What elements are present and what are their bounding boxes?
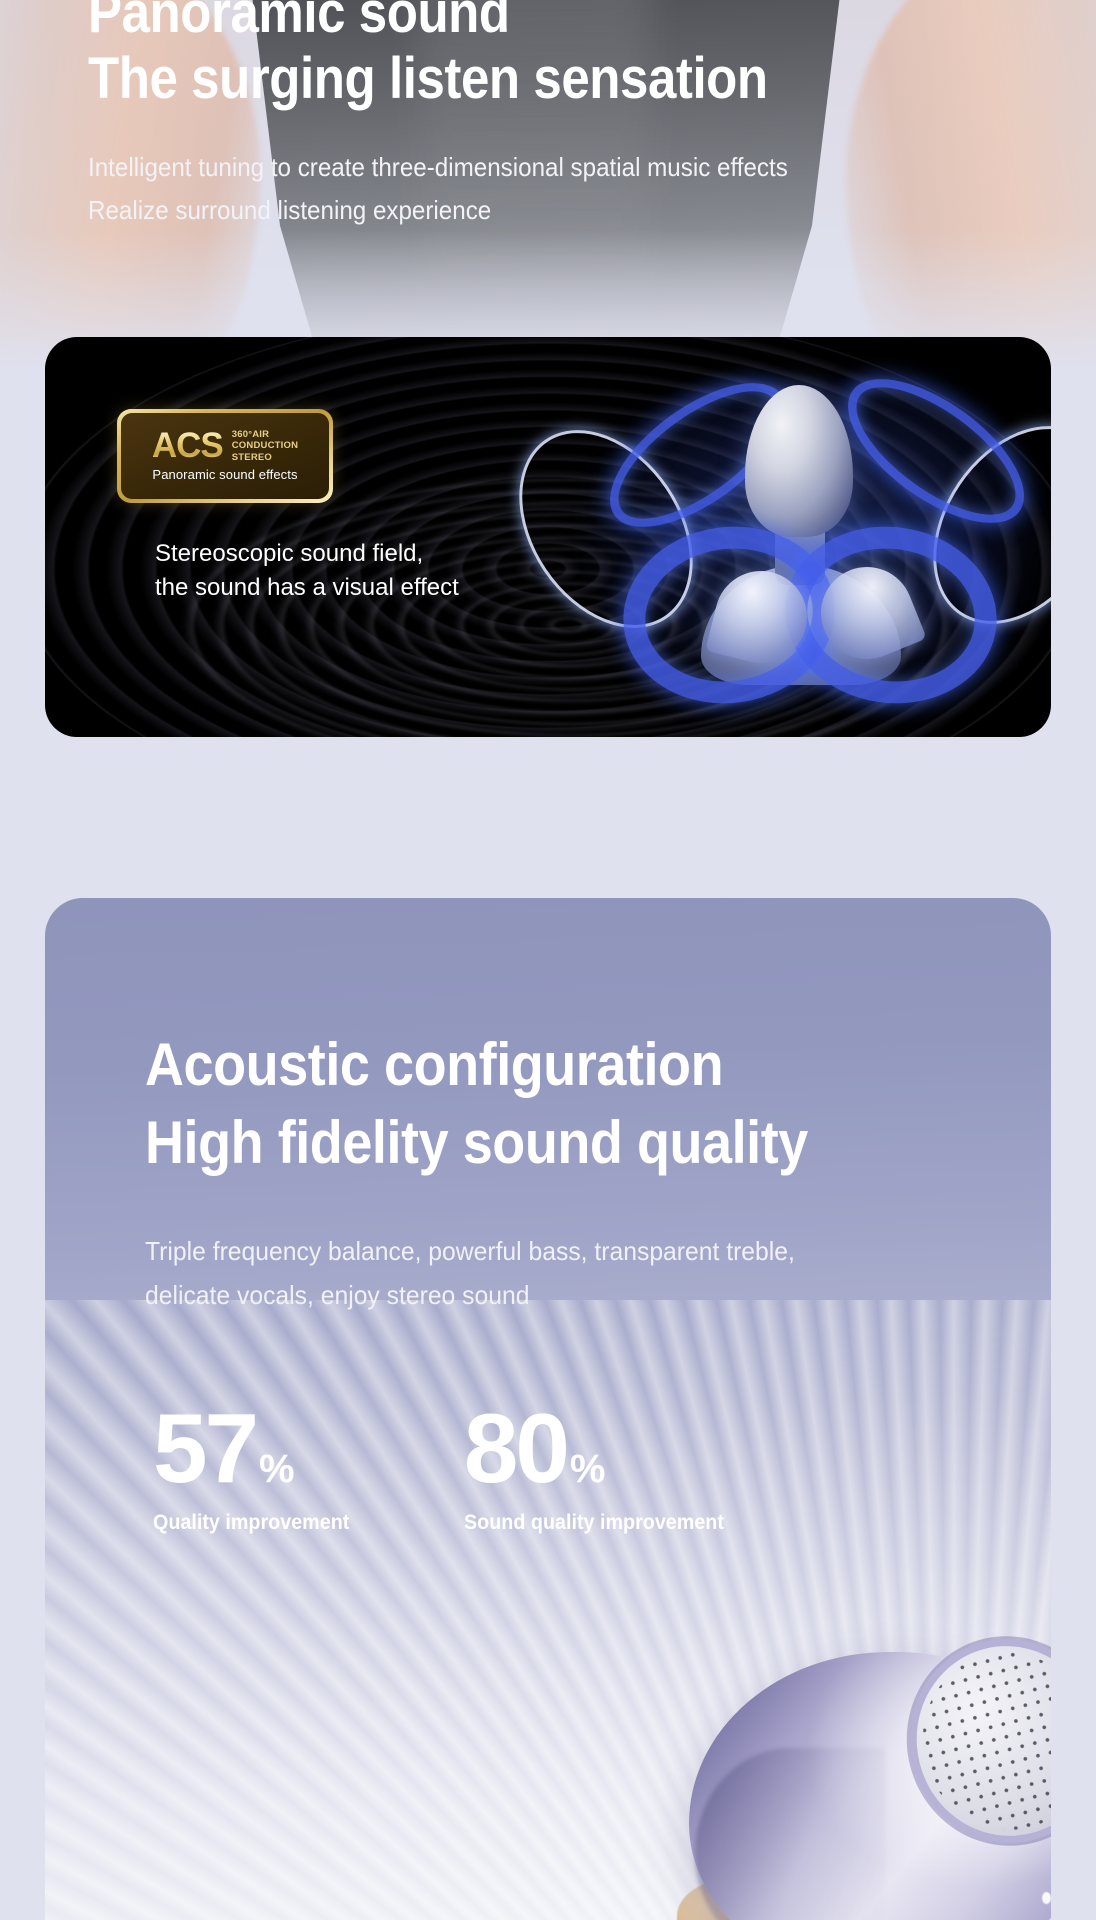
stat-value: 80 xyxy=(464,1402,567,1495)
acs-badge-top-row: ACS 360°AIR CONDUCTION STEREO xyxy=(152,429,298,464)
statistics-row: 57 % Quality improvement 80 % Sound qual… xyxy=(145,1402,1051,1535)
stat-number-group: 57 % xyxy=(153,1402,362,1495)
acs-panoramic-sound-card: ACS 360°AIR CONDUCTION STEREO Panoramic … xyxy=(45,337,1051,737)
stat-number-group: 80 % xyxy=(464,1402,741,1495)
hero-eyebrow-cropped: Panoramic sound xyxy=(88,0,915,45)
acs-tagline-line-1: Stereoscopic sound field, xyxy=(155,537,459,571)
stat-label: Quality improvement xyxy=(153,1511,349,1535)
acs-spec-line-1: 360°AIR xyxy=(232,429,298,441)
hero-title: The surging listen sensation xyxy=(88,47,915,112)
hifi-title-line-2: High fidelity sound quality xyxy=(145,1104,960,1182)
hifi-subtitle-line-2: delicate vocals, enjoy stereo sound xyxy=(145,1274,1006,1316)
stat-label: Sound quality improvement xyxy=(464,1511,724,1535)
stat-value: 57 xyxy=(153,1402,256,1495)
hero-text-block: Panoramic sound The surging listen sensa… xyxy=(88,0,1028,231)
hifi-subtitle-line-1: Triple frequency balance, powerful bass,… xyxy=(145,1230,1006,1272)
acs-tagline: Stereoscopic sound field, the sound has … xyxy=(155,537,459,605)
acs-badge-inner: ACS 360°AIR CONDUCTION STEREO Panoramic … xyxy=(121,413,329,499)
speaker-highlight-dot xyxy=(1042,1892,1051,1904)
acs-spec-line-3: STEREO xyxy=(232,452,298,464)
stat-sound-quality-improvement: 80 % Sound quality improvement xyxy=(412,1402,741,1535)
acs-logo-text: ACS xyxy=(152,430,223,462)
acs-spec-text: 360°AIR CONDUCTION STEREO xyxy=(232,429,298,464)
speaker-product-image xyxy=(689,1628,1051,1920)
acs-tagline-line-2: the sound has a visual effect xyxy=(155,571,459,605)
stat-percent-sign: % xyxy=(259,1450,295,1488)
high-fidelity-card: Acoustic configuration High fidelity sou… xyxy=(45,898,1051,1920)
sound-field-illustration xyxy=(605,359,1025,729)
stat-percent-sign: % xyxy=(570,1450,606,1488)
stat-quality-improvement: 57 % Quality improvement xyxy=(145,1402,362,1535)
acs-spec-line-2: CONDUCTION xyxy=(232,440,298,452)
acs-badge: ACS 360°AIR CONDUCTION STEREO Panoramic … xyxy=(117,409,333,503)
hero-subtitle-line-1: Intelligent tuning to create three-dimen… xyxy=(88,148,962,188)
hifi-content: Acoustic configuration High fidelity sou… xyxy=(45,898,1051,1535)
product-marketing-page: Panoramic sound The surging listen sensa… xyxy=(0,0,1096,1920)
acs-badge-caption: Panoramic sound effects xyxy=(152,467,297,482)
hifi-title-line-1: Acoustic configuration xyxy=(145,1026,960,1104)
hero-subtitle-line-2: Realize surround listening experience xyxy=(88,191,962,231)
